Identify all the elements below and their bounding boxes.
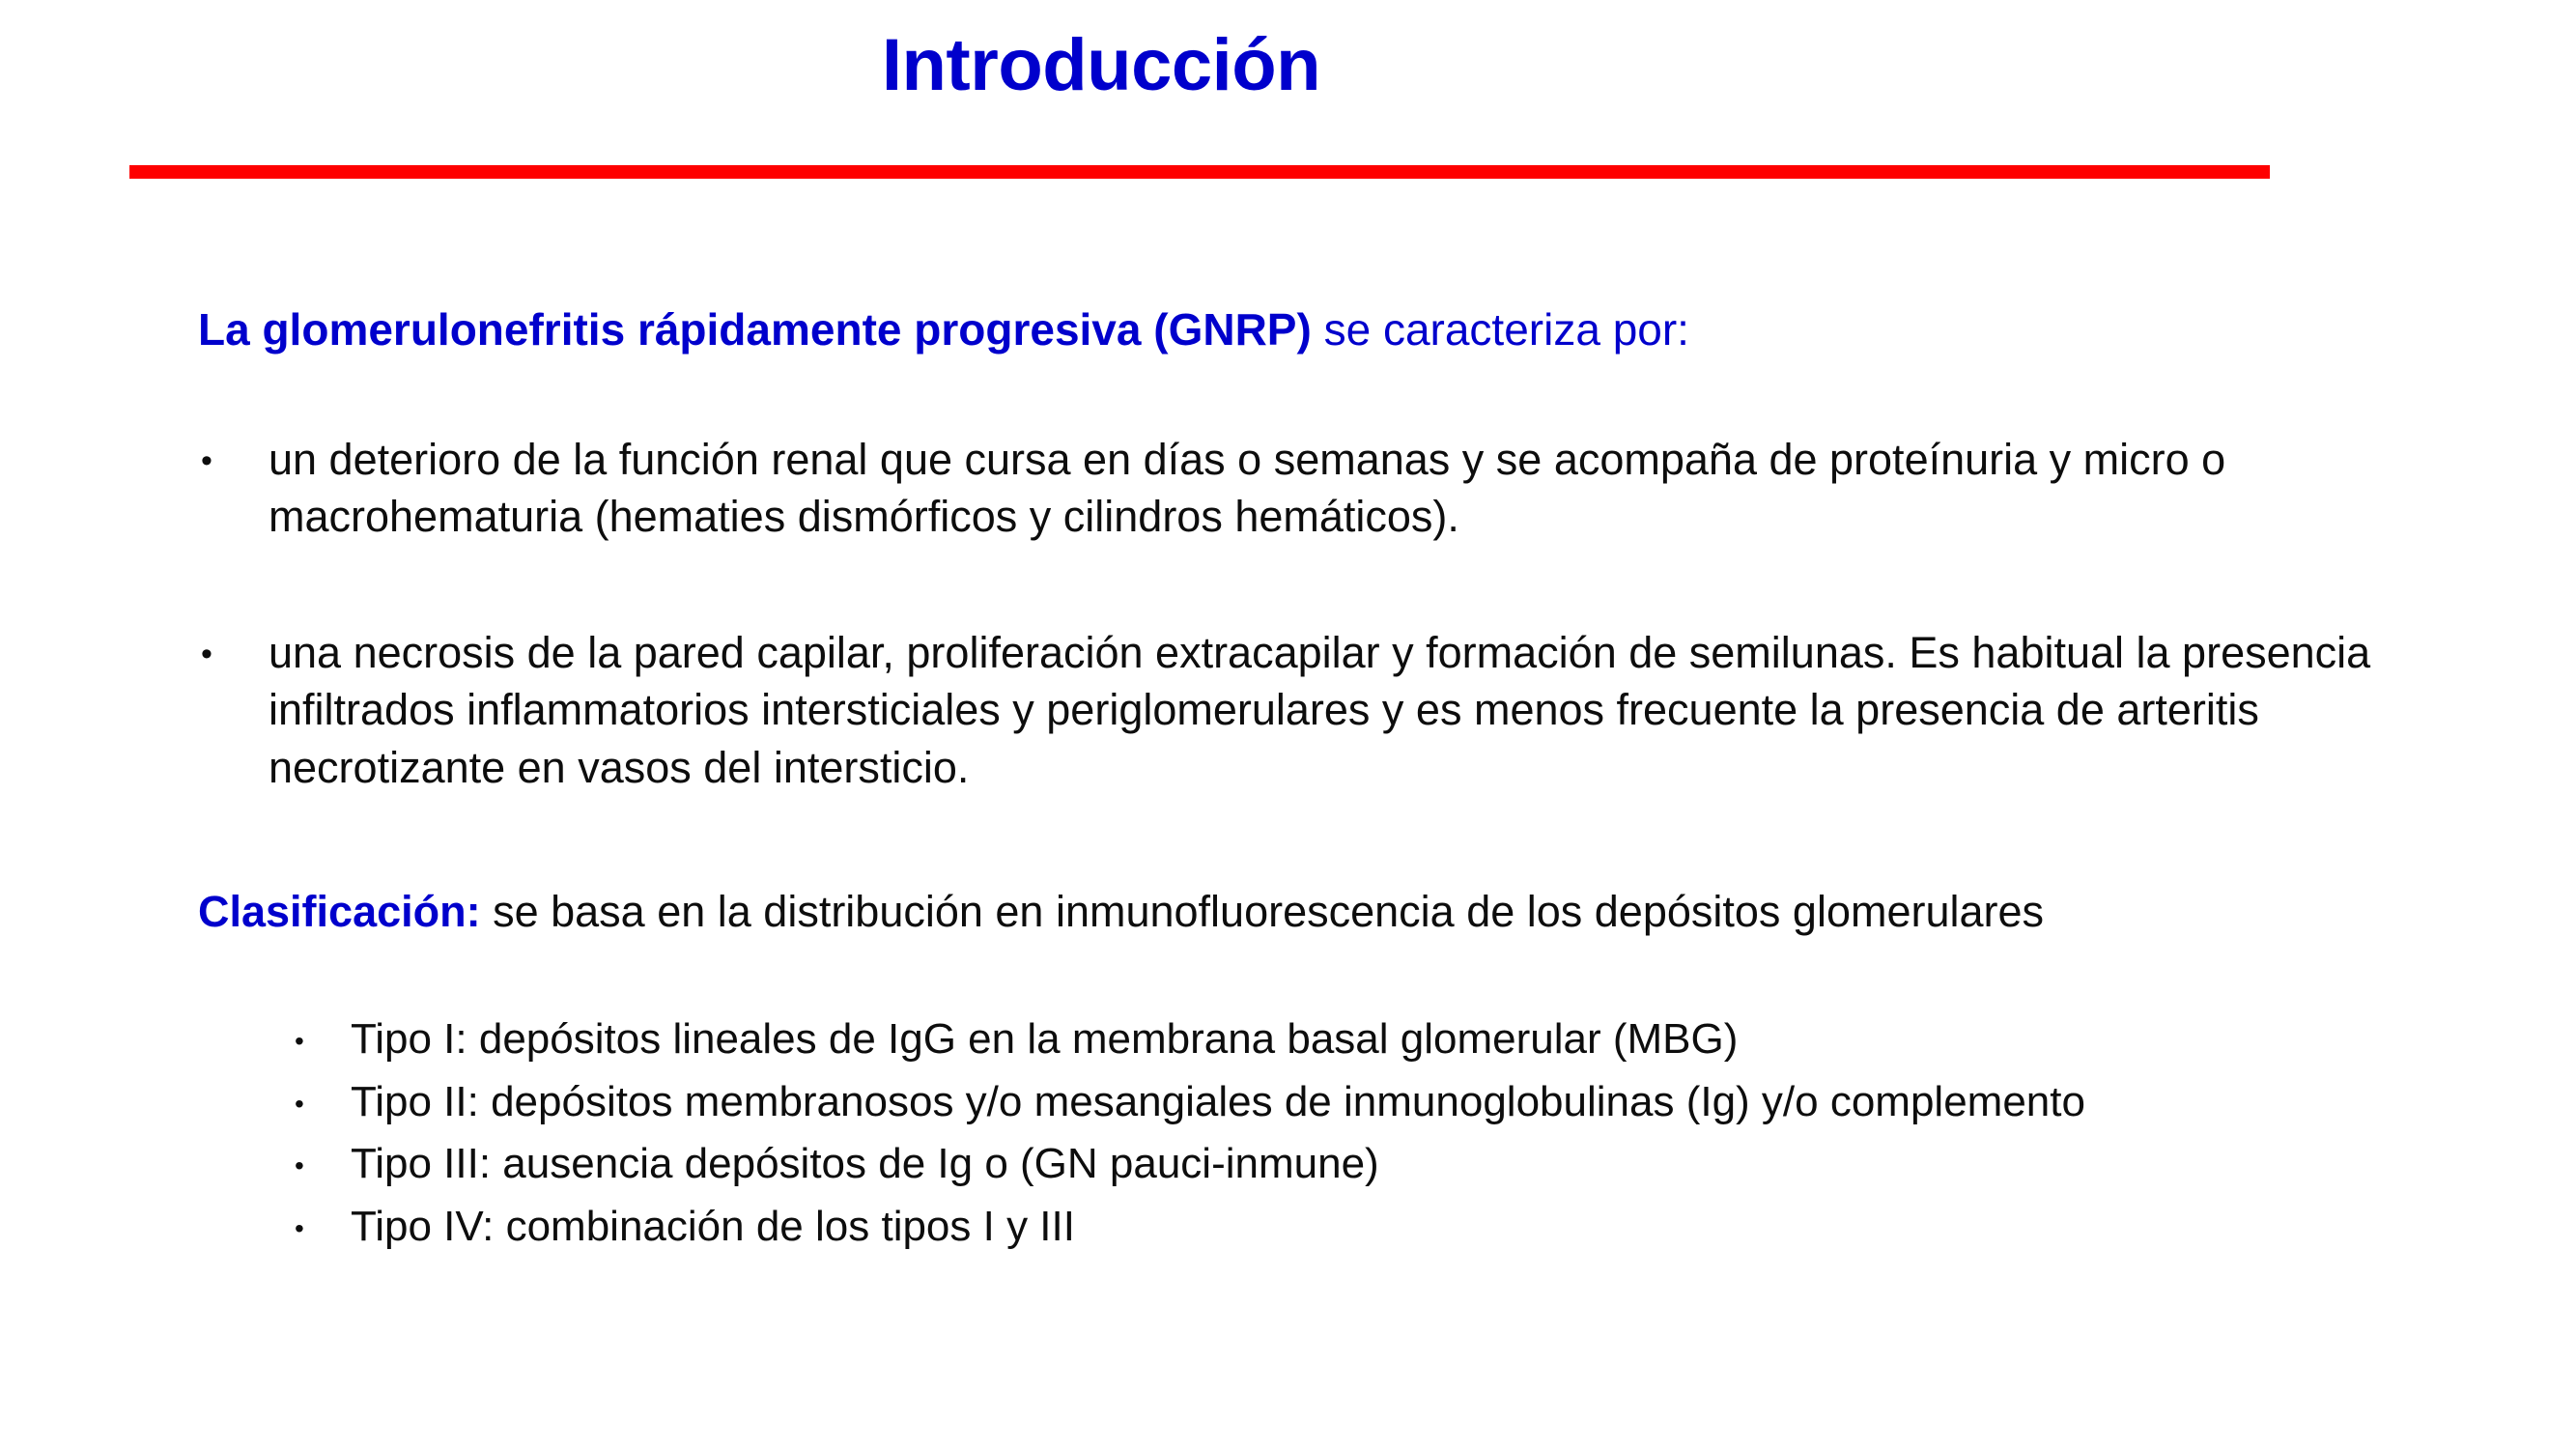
list-item-text: una necrosis de la pared capilar, prolif… <box>269 624 2403 796</box>
list-item-text: Tipo I: depósitos lineales de IgG en la … <box>351 1011 2516 1068</box>
list-item: • una necrosis de la pared capilar, prol… <box>201 624 2403 796</box>
lead-paragraph-rest: se caracteriza por: <box>1312 304 1689 355</box>
list-item-text: Tipo IV: combinación de los tipos I y II… <box>351 1199 2516 1256</box>
type-list: • Tipo I: depósitos lineales de IgG en l… <box>295 1011 2516 1261</box>
classification-paragraph: Clasificación: se basa en la distribució… <box>198 885 2044 939</box>
presentation-slide: Introducción La glomerulonefritis rápida… <box>0 0 2576 1449</box>
list-item: • Tipo IV: combinación de los tipos I y … <box>295 1199 2516 1256</box>
bullet-icon: • <box>201 431 269 477</box>
classification-label: Clasificación: <box>198 887 481 936</box>
bullet-icon: • <box>201 624 269 670</box>
slide-body: La glomerulonefritis rápidamente progres… <box>0 0 2576 1449</box>
bullet-icon: • <box>295 1011 351 1055</box>
bullet-icon: • <box>295 1074 351 1118</box>
bullet-icon: • <box>295 1136 351 1179</box>
list-item-text: Tipo III: ausencia depósitos de Ig o (GN… <box>351 1136 2516 1193</box>
list-item-text: Tipo II: depósitos membranosos y/o mesan… <box>351 1074 2516 1131</box>
lead-paragraph-highlight: La glomerulonefritis rápidamente progres… <box>198 304 1312 355</box>
list-item: • Tipo I: depósitos lineales de IgG en l… <box>295 1011 2516 1068</box>
list-item: • Tipo III: ausencia depósitos de Ig o (… <box>295 1136 2516 1193</box>
classification-description: se basa en la distribución en inmunofluo… <box>481 887 2044 936</box>
list-item: • un deterioro de la función renal que c… <box>201 431 2326 546</box>
bullet-icon: • <box>295 1199 351 1242</box>
list-item: • Tipo II: depósitos membranosos y/o mes… <box>295 1074 2516 1131</box>
lead-paragraph: La glomerulonefritis rápidamente progres… <box>198 303 1689 355</box>
list-item-text: un deterioro de la función renal que cur… <box>269 431 2326 546</box>
